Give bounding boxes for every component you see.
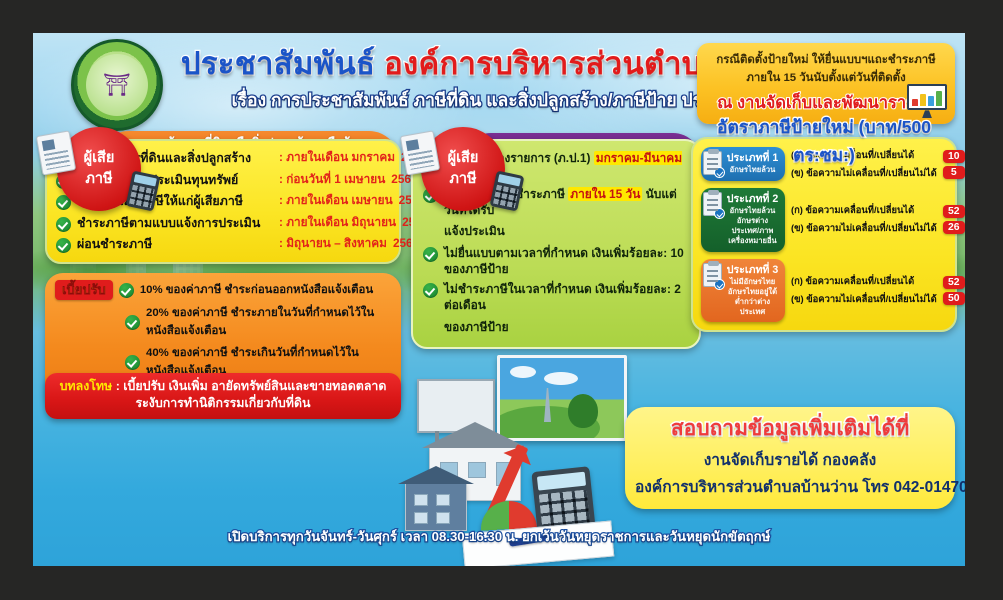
rate-condition-list: (ก) ข้อความเคลื่อนที่/เปลี่ยนได้ (ข) ข้อ… [791, 259, 937, 323]
land-taxpayer-badge: ผู้เสีย ภาษี [57, 127, 141, 211]
status-badge: 50 [943, 292, 965, 305]
land-item-label: ผ่อนชำระภาษี [77, 236, 273, 253]
house-icon [429, 447, 521, 501]
service-hours-text: เปิดบริการทุกวันจันทร์-วันศุกร์ เวลา 08.… [228, 526, 771, 547]
punishment-line-1: บทลงโทษ : เบี้ยปรับ เงินเพิ่ม อายัดทรัพย… [55, 378, 391, 395]
punishment-text-1: : เบี้ยปรับ เงินเพิ่ม อายัดทรัพย์สินและข… [116, 379, 387, 393]
sign-type-desc: อักษรไทยล้วน อักษรต่างประเทศ/ภาพ เครื่อง… [725, 206, 780, 245]
sign-payer-line1: ผู้เสีย [448, 148, 479, 169]
document-icon [400, 130, 440, 175]
land-payer-line1: ผู้เสีย [84, 148, 115, 169]
rate-condition: (ข) ข้อความไม่เคลื่อนที่/เปลี่ยนไม่ได้ [791, 221, 937, 236]
notice-line-1: กรณีติดตั้งป้ายใหม่ ให้ยื่นแบบฯแถะชำระภา… [707, 52, 945, 70]
check-icon [125, 315, 140, 330]
status-badge: 26 [943, 221, 965, 234]
contact-department: งานจัดเก็บรายได้ กองคลัง [635, 447, 945, 472]
table-row: ผ่อนชำระภาษี : มิถุนายน – สิงหาคม 2569 [56, 236, 389, 253]
public-relations-poster: ⛩ ประชาสัมพันธ์ องค์การบริหารส่วนตำบลบ้า… [33, 33, 965, 566]
status-badge: 52 [943, 205, 965, 218]
billboard-icon [497, 355, 627, 441]
rate-value-list: 52 26 [943, 188, 965, 252]
land-item-label: ชำระภาษีตามแบบแจ้งการประเมิน [77, 215, 273, 232]
punishment-tag: บทลงโทษ [60, 379, 113, 393]
list-item: ไม่ยื่นแบบตามเวลาที่กำหนด เงินเพิ่มร้อยล… [423, 245, 688, 277]
list-item: ไม่ชำระภาษีในเวลาที่กำหนด เงินเพิ่มร้อยล… [423, 281, 688, 313]
sign-rule-highlight: ภายใน 15 วัน [568, 187, 642, 201]
sign-type-chip: ประเภทที่ 3 ไม่มีอักษรไทย อักษรไทยอยู่ใต… [701, 259, 785, 323]
rate-value-list: 52 50 [943, 259, 965, 323]
rate-table-title: อัตราภาษีป้ายใหม่ (บาท/500 ตร:ซม:) [691, 113, 957, 169]
land-item-value: : ภายในเดือน มกราคม [279, 150, 395, 166]
check-icon [125, 355, 140, 370]
rate-condition: (ก) ข้อความเคลื่อนที่/เปลี่ยนได้ [791, 203, 937, 218]
title-blue-part: ประชาสัมพันธ์ [181, 46, 375, 81]
billboard-icon [417, 379, 495, 433]
status-badge: 52 [943, 276, 965, 289]
punishment-line-2: ระงับการทำนิติกรรมเกี่ยวกับที่ดิน [55, 395, 391, 412]
rate-condition: (ก) ข้อความเคลื่อนที่/เปลี่ยนได้ [791, 274, 937, 289]
land-item-value: : ภายในเดือน มิถุนายน [279, 215, 396, 231]
screenshot-root: ⛩ ประชาสัมพันธ์ องค์การบริหารส่วนตำบลบ้า… [0, 0, 1003, 600]
punishment-bar: บทลงโทษ : เบี้ยปรับ เงินเพิ่ม อายัดทรัพย… [45, 373, 401, 419]
table-row: ประเภทที่ 3 ไม่มีอักษรไทย อักษรไทยอยู่ใต… [701, 259, 947, 323]
sign-type-chip: ประเภทที่ 2 อักษรไทยล้วน อักษรต่างประเทศ… [701, 188, 785, 252]
contact-phone-line: องค์การบริหารส่วนตำบลบ้านว่าน โทร 042-01… [635, 474, 945, 499]
service-hours-bar: เปิดบริการทุกวันจันทร์-วันศุกร์ เวลา 08.… [33, 524, 965, 548]
penalty-text: 20% ของค่าภาษี ชำระภายในวันที่กำหนดไว้ใน… [146, 304, 389, 340]
penalty-text: 10% ของค่าภาษี ชำระก่อนออกหนังสือแจ้งเตื… [140, 281, 373, 299]
clipboard-check-icon [703, 263, 722, 287]
penalty-row: 20% ของค่าภาษี ชำระภายในวันที่กำหนดไว้ใน… [55, 304, 389, 340]
contact-title: สอบถามข้อมูลเพิ่มเติมได้ที่ [635, 415, 945, 442]
penalty-row: เบี้ยปรับ 10% ของค่าภาษี ชำระก่อนออกหนัง… [55, 280, 389, 300]
sign-rule-subline: ของภาษีป้าย [423, 318, 688, 337]
sign-rule-text: ไม่ชำระภาษีในเวลาที่กำหนด เงินเพิ่มร้อยล… [444, 281, 688, 313]
check-icon [56, 217, 71, 232]
check-icon [56, 238, 71, 253]
rate-condition: (ข) ข้อความไม่เคลื่อนที่/เปลี่ยนไม่ได้ [791, 292, 937, 307]
table-row: ประเภทที่ 2 อักษรไทยล้วน อักษรต่างประเทศ… [701, 188, 947, 252]
land-payer-line2: ภาษี [85, 169, 112, 190]
contact-box: สอบถามข้อมูลเพิ่มเติมได้ที่ งานจัดเก็บรา… [625, 407, 955, 509]
land-item-value: : ภายในเดือน เมษายน [279, 193, 393, 209]
sign-payer-line2: ภาษี [449, 169, 476, 190]
sign-rule-subline: แจ้งประเมิน [423, 222, 688, 241]
growth-arrow-icon [486, 444, 529, 520]
land-item-value: : ก่อนวันที่ 1 เมษายน [279, 172, 385, 188]
penalty-fine-tag: เบี้ยปรับ [55, 280, 113, 300]
table-row: ชำระภาษีตามแบบแจ้งการประเมิน : ภายในเดือ… [56, 215, 389, 232]
land-item-value: : มิถุนายน – สิงหาคม [279, 236, 387, 252]
document-icon [36, 130, 76, 175]
check-icon [119, 283, 134, 298]
sign-type-name: ประเภทที่ 2 [725, 193, 780, 206]
rate-condition-list: (ก) ข้อความเคลื่อนที่/เปลี่ยนได้ (ข) ข้อ… [791, 188, 937, 252]
sign-type-name: ประเภทที่ 3 [725, 264, 780, 277]
check-icon [423, 283, 438, 298]
sign-rule-text: ไม่ยื่นแบบตามเวลาที่กำหนด เงินเพิ่มร้อยล… [444, 245, 688, 277]
government-seal-icon: ⛩ [71, 39, 163, 131]
sign-taxpayer-badge: ผู้เสีย ภาษี [421, 127, 505, 211]
sign-type-desc: ไม่มีอักษรไทย อักษรไทยอยู่ใต้ ต่ำกว่าต่า… [725, 277, 780, 316]
clipboard-check-icon [703, 192, 722, 216]
check-icon [423, 247, 438, 262]
